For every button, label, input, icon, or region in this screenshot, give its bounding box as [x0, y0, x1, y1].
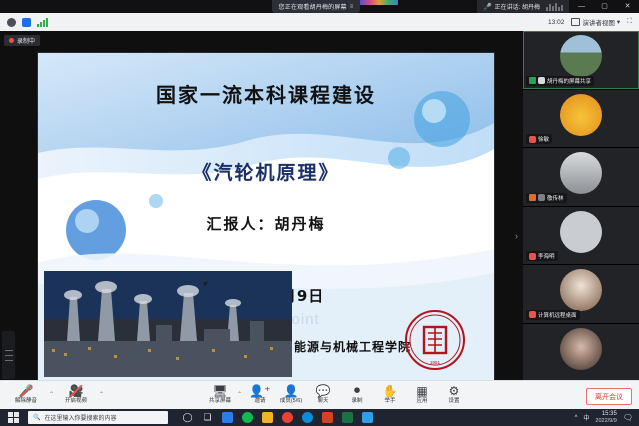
windows-taskbar: 🔍 在这里输入你要搜索的内容 ◯ ❏ ^ 中 15:35 2022/9/9 🗨 — [0, 409, 639, 426]
settings-button[interactable]: ⚙ 设置 — [434, 383, 474, 405]
seal-year: 1951 — [430, 360, 441, 365]
participant-namebar: 徐敏 — [526, 134, 552, 144]
active-speaker-label: 正在讲话: 胡丹梅 — [495, 2, 540, 11]
gear-icon: ⚙ — [449, 383, 460, 398]
apps-label: 应用 — [416, 398, 427, 405]
close-button[interactable]: ✕ — [616, 0, 639, 13]
chrome-icon[interactable] — [282, 412, 293, 423]
system-tray: ^ 中 15:35 2022/9/9 🗨 — [575, 411, 639, 425]
mic-muted-icon — [529, 253, 536, 260]
raise-hand-icon: ✋ — [383, 383, 398, 398]
meeting-timer: 13:02 — [548, 19, 564, 26]
taskview-icon[interactable]: ❏ — [202, 412, 213, 423]
participant-name: 李海明 — [538, 252, 555, 260]
participant-tile[interactable]: 徐敏 — [523, 90, 639, 149]
secondary-toolbar: 13:02 演讲者视图 ▾ ⛶ — [0, 13, 639, 32]
apps-grid-icon: ▦ — [416, 383, 427, 398]
slide-department: 能源与机械工程学院 — [294, 338, 411, 355]
explorer-icon[interactable] — [262, 412, 273, 423]
browser-green-icon[interactable] — [242, 412, 253, 423]
record-icon: ⏺ — [354, 383, 360, 398]
clock-time: 15:35 — [602, 411, 617, 418]
participant-namebar: 计算机远程桌面 — [526, 310, 580, 320]
maximize-button[interactable]: ▢ — [593, 0, 616, 13]
search-icon: 🔍 — [33, 414, 40, 421]
audio-wave-icon — [546, 3, 563, 11]
avatar — [560, 211, 602, 253]
slide-presenter: 汇报人：胡丹梅 — [38, 213, 494, 234]
participant-rail[interactable]: 胡丹梅的屏幕共享 徐敏 敬传林 李海明 — [523, 31, 639, 380]
participant-name: 胡丹梅的屏幕共享 — [547, 77, 591, 85]
presenter-view-label: 演讲者视图 — [582, 17, 615, 27]
presenter-view-button[interactable]: 演讲者视图 ▾ — [571, 17, 620, 27]
unmute-button[interactable]: 🎤 解除静音 — [6, 383, 46, 405]
title-bar: 您正在观看胡丹梅的屏幕 ≡ 🎤 正在讲话: 胡丹梅 — ▢ ✕ — [0, 0, 639, 13]
mic-muted-icon: 🎤 — [19, 383, 34, 398]
avatar — [560, 152, 602, 194]
windows-start-icon[interactable] — [0, 409, 26, 426]
participant-namebar: 敬传林 — [526, 193, 567, 203]
avatar — [560, 328, 602, 370]
camera-off-icon: 🎥 — [69, 383, 84, 398]
excel-icon[interactable] — [342, 412, 353, 423]
chat-icon: 💬 — [316, 383, 331, 398]
mic-muted-icon — [538, 194, 545, 201]
mic-muted-icon — [529, 311, 536, 318]
app-blue-icon[interactable] — [22, 18, 31, 27]
share-menu-icon[interactable]: ≡ — [350, 4, 354, 10]
meeting-toolbar: 🎤 解除静音 ⌃ 🎥 开启视频 ⌃ 🖥 共享屏幕 ⌃ 👤⁺ 邀请 👤 成员(5/… — [0, 380, 639, 410]
clock[interactable]: 15:35 2022/9/9 — [595, 411, 616, 425]
chevron-up-icon[interactable]: ⌃ — [99, 391, 104, 398]
subbar-left-icons — [0, 18, 48, 27]
fullscreen-icon[interactable]: ⛶ — [627, 18, 631, 26]
share-screen-label: 共享屏幕 — [209, 398, 231, 405]
mic-on-icon — [538, 77, 545, 84]
chevron-down-icon[interactable]: ▾ — [617, 18, 620, 26]
participant-tile[interactable]: 李海明 — [523, 207, 639, 266]
participant-tile[interactable] — [523, 324, 639, 381]
screen-view-icon — [571, 18, 580, 26]
slide-subject: 《汽轮机原理》 — [38, 158, 494, 185]
record-label: 录制 — [351, 398, 362, 405]
ime-indicator[interactable]: 中 — [583, 413, 589, 422]
participant-tile[interactable]: 胡丹梅的屏幕共享 — [523, 31, 639, 90]
recording-label: 录制中 — [17, 36, 35, 45]
tencent-meeting-window: 您正在观看胡丹梅的屏幕 ≡ 🎤 正在讲话: 胡丹梅 — ▢ ✕ 13:02 — [0, 0, 639, 426]
edge-icon[interactable] — [302, 412, 313, 423]
next-slide-arrow[interactable]: › — [515, 231, 518, 241]
search-input[interactable]: 🔍 在这里输入你要搜索的内容 — [28, 411, 168, 424]
settings-label: 设置 — [448, 398, 459, 405]
ppt-left-toolbar[interactable] — [2, 331, 15, 379]
clock-date: 2022/9/9 — [595, 418, 616, 425]
tray-caret-icon[interactable]: ^ — [575, 415, 578, 421]
share-screen-button[interactable]: 🖥 共享屏幕 — [200, 383, 240, 405]
mic-muted-icon — [529, 136, 536, 143]
cortana-icon[interactable]: ◯ — [182, 412, 193, 423]
mic-icon: 🎤 — [483, 3, 492, 11]
camera-off-icon — [529, 194, 536, 201]
avatar — [560, 94, 602, 136]
avatar — [560, 35, 602, 77]
minimize-button[interactable]: — — [570, 0, 593, 13]
subbar-right-controls: 13:02 演讲者视图 ▾ ⛶ — [548, 17, 639, 27]
participants-label: 成员(5/6) — [280, 398, 302, 405]
unmute-label: 解除静音 — [15, 398, 37, 405]
powerpoint-slide: 国家一流本科课程建设 《汽轮机原理》 汇报人：胡丹梅 2022年9月9日 Pow… — [38, 53, 494, 383]
avatar — [560, 269, 602, 311]
screen-share-notice[interactable]: 您正在观看胡丹梅的屏幕 ≡ — [272, 0, 360, 13]
powerpoint-icon[interactable] — [322, 412, 333, 423]
participant-name: 敬传林 — [547, 194, 564, 202]
power-plant-photo — [44, 271, 292, 377]
raise-hand-label: 举手 — [384, 398, 395, 405]
record-dot-icon[interactable] — [7, 18, 16, 27]
signal-bars-icon[interactable] — [37, 18, 48, 27]
participant-name: 徐敏 — [538, 135, 549, 143]
participant-namebar: 李海明 — [526, 251, 558, 261]
share-border-strip — [360, 0, 398, 5]
chat-label: 聊天 — [317, 398, 328, 405]
leave-meeting-label: 离开会议 — [595, 392, 623, 402]
university-seal-logo: 1951 — [404, 309, 466, 371]
tencent-meeting-icon[interactable] — [222, 412, 233, 423]
participant-name: 计算机远程桌面 — [538, 311, 577, 319]
screen-share-icon — [529, 77, 536, 84]
invite-label: 邀请 — [254, 398, 265, 405]
start-video-label: 开启视频 — [65, 398, 87, 405]
chevron-up-icon[interactable]: ⌃ — [49, 391, 54, 398]
screen-share-icon: 🖥 — [212, 383, 227, 398]
participant-tile[interactable]: 计算机远程桌面 — [523, 265, 639, 324]
participants-icon: 👤 — [284, 383, 299, 398]
taskbar-pinned-apps: ◯ ❏ — [182, 412, 373, 423]
shared-screen-stage: 录制中 — [0, 31, 523, 380]
window-controls: — ▢ ✕ — [570, 0, 639, 13]
participant-namebar: 胡丹梅的屏幕共享 — [526, 76, 594, 86]
leave-meeting-button[interactable]: 离开会议 — [586, 388, 632, 405]
slide-title: 国家一流本科课程建设 — [38, 79, 494, 108]
tencent-icon[interactable] — [362, 412, 373, 423]
notification-icon[interactable]: 🗨 — [623, 413, 633, 422]
share-notice-label: 您正在观看胡丹梅的屏幕 — [279, 2, 347, 11]
start-video-button[interactable]: 🎥 开启视频 — [56, 383, 96, 405]
search-placeholder: 在这里输入你要搜索的内容 — [44, 413, 116, 422]
active-speaker-indicator: 🎤 正在讲话: 胡丹梅 — [477, 0, 569, 13]
recording-indicator: 录制中 — [4, 35, 40, 46]
invite-user-icon: 👤⁺ — [249, 383, 270, 398]
record-dot-icon — [9, 38, 14, 43]
participant-tile[interactable]: 敬传林 — [523, 148, 639, 207]
